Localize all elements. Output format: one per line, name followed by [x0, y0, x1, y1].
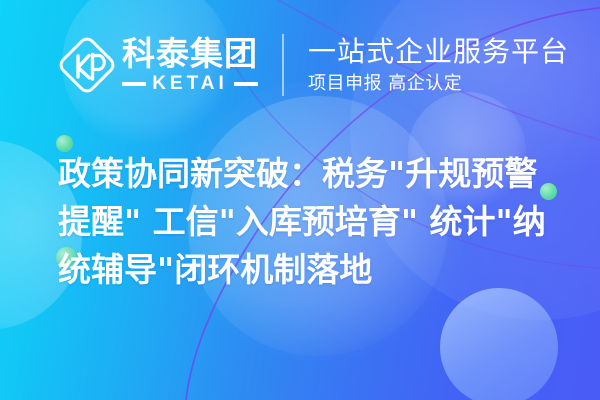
ketai-kp-diamond-logo-icon	[58, 36, 116, 94]
logo-dash-left	[122, 82, 146, 86]
header-divider	[282, 34, 284, 96]
logo-dash-right	[234, 82, 258, 86]
logo-company-name-en: KETAI	[152, 74, 228, 93]
header-tagline: 一站式企业服务平台 项目申报 高企认定	[308, 36, 569, 95]
brand-logo[interactable]: 科泰集团 KETAI	[58, 36, 258, 94]
headline-line-1: 政策协同新突破：税务"升规预警	[58, 150, 568, 198]
tagline-primary: 一站式企业服务平台	[308, 36, 569, 67]
promo-banner: 科泰集团 KETAI 一站式企业服务平台 项目申报 高企认定 政策协同新突破：税…	[0, 0, 600, 400]
banner-header: 科泰集团 KETAI 一站式企业服务平台 项目申报 高企认定	[0, 0, 600, 130]
tagline-secondary: 项目申报 高企认定	[308, 73, 569, 95]
logo-company-name-cn: 科泰集团	[122, 37, 258, 70]
headline-line-2: 提醒" 工信"入库预培育" 统计"纳	[58, 198, 568, 246]
headline-block: 政策协同新突破：税务"升规预警 提醒" 工信"入库预培育" 统计"纳 统辅导"闭…	[58, 150, 568, 294]
headline-line-3: 统辅导"闭环机制落地	[58, 246, 568, 294]
